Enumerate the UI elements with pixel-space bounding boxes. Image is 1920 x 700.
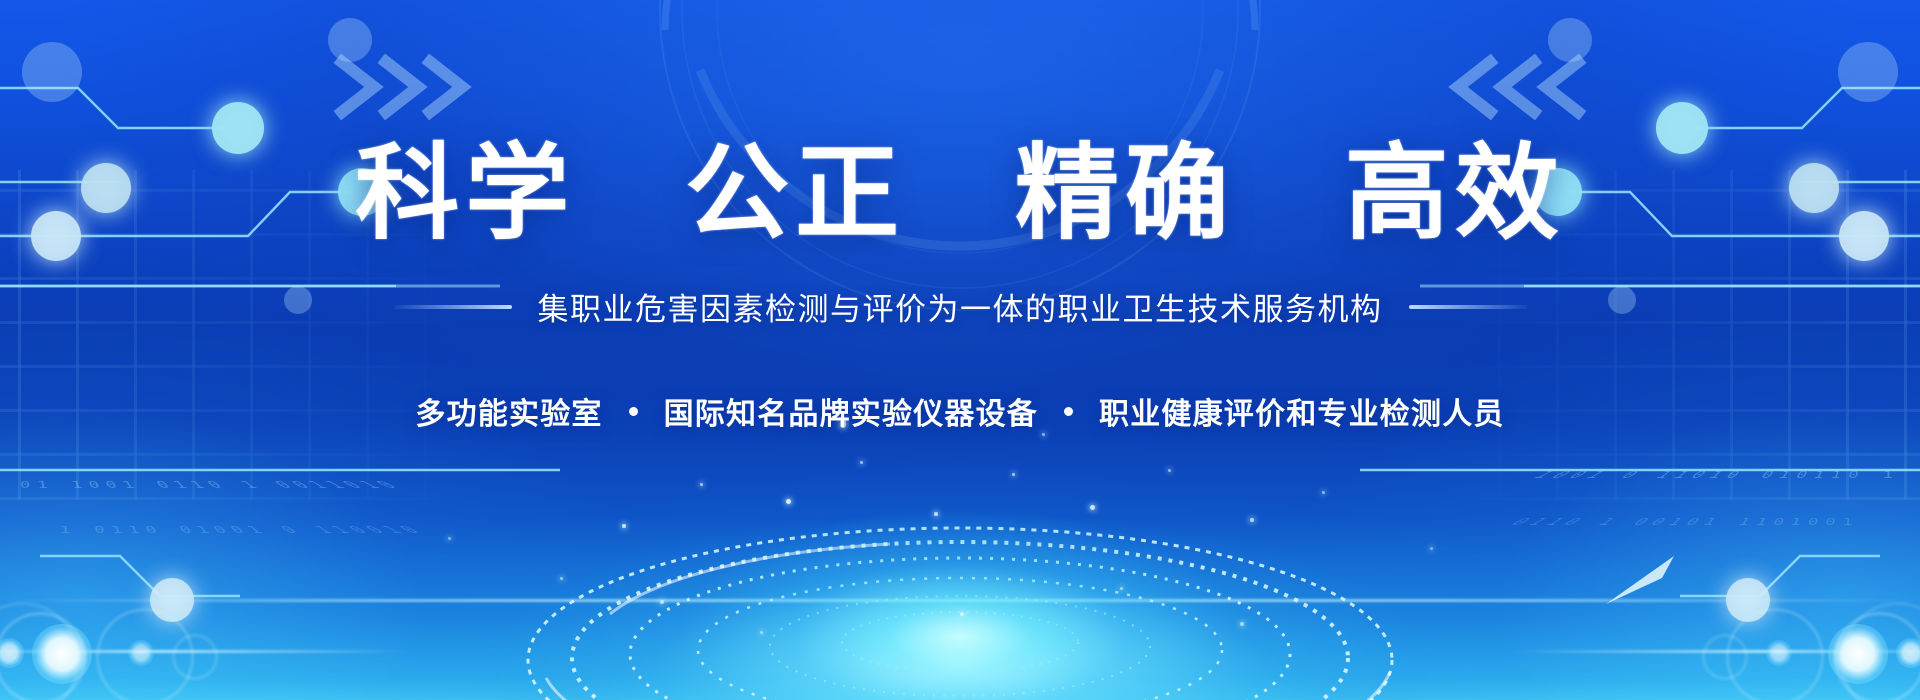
headline-part-3: 精确 bbox=[1015, 136, 1235, 252]
tagline-part-1: 多功能实验室 bbox=[415, 389, 602, 433]
headline-part-4: 高效 bbox=[1345, 136, 1565, 252]
headline-part-1: 科学 bbox=[355, 136, 575, 252]
headline-part-2: 公正 bbox=[685, 136, 905, 252]
hero-banner: 01 1001 0110 1 0011010 1 0110 01001 0 11… bbox=[0, 0, 1920, 700]
tagline-part-3: 职业健康评价和专业检测人员 bbox=[1099, 389, 1505, 433]
tagline-row: 多功能实验室 国际知名品牌实验仪器设备 职业健康评价和专业检测人员 bbox=[415, 389, 1504, 433]
bullet-separator-icon bbox=[1064, 407, 1073, 416]
tagline-part-2: 国际知名品牌实验仪器设备 bbox=[664, 389, 1038, 433]
subtitle-row: 集职业危害因素检测与评价为一体的职业卫生技术服务机构 bbox=[394, 284, 1527, 329]
page-title: 科学 公正 精确 高效 bbox=[355, 138, 1565, 250]
bullet-separator-icon bbox=[629, 407, 638, 416]
subtitle-rule-left bbox=[394, 305, 512, 309]
subtitle-text: 集职业危害因素检测与评价为一体的职业卫生技术服务机构 bbox=[538, 284, 1383, 329]
subtitle-rule-right bbox=[1409, 305, 1527, 309]
banner-content: 科学 公正 精确 高效 集职业危害因素检测与评价为一体的职业卫生技术服务机构 多… bbox=[0, 0, 1920, 700]
